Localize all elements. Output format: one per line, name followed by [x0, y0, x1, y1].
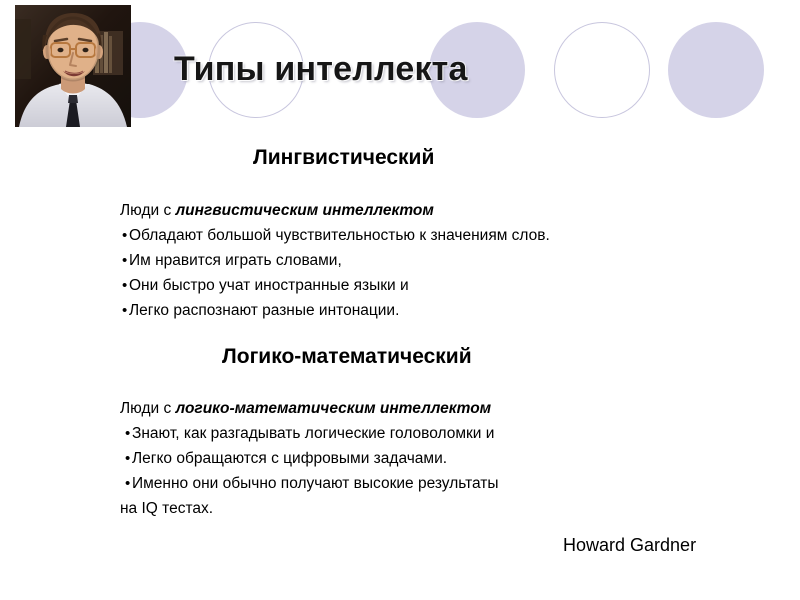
list-item: •Они быстро учат иностранные языки и	[122, 273, 550, 298]
lead-line: Люди с логико-математическим интеллектом	[120, 396, 499, 421]
list-item-label: Знают, как разгадывать логические голово…	[132, 425, 494, 442]
portrait-photo	[15, 5, 131, 127]
section-body-linguistic: Люди с лингвистическим интеллектом •Обла…	[120, 198, 550, 323]
list-item: •Именно они обычно получают высокие резу…	[125, 471, 499, 496]
decorative-circle-5	[668, 22, 764, 118]
lead-prefix: Люди с	[120, 400, 176, 417]
section-heading-linguistic: Лингвистический	[253, 146, 434, 170]
attribution-text: Howard Gardner	[563, 535, 696, 556]
bullet-icon: •	[125, 421, 132, 446]
slide-canvas: Типы интеллекта Лингвистический Люди с л…	[0, 0, 800, 600]
list-item: •Легко обращаются с цифровыми задачами.	[125, 446, 499, 471]
bullet-icon: •	[122, 298, 129, 323]
section-heading-logical-mathematical: Логико-математический	[222, 345, 472, 369]
bullet-icon: •	[122, 223, 129, 248]
bullet-icon: •	[125, 446, 132, 471]
section-body-logical-mathematical: Люди с логико-математическим интеллектом…	[120, 396, 499, 521]
list-item-label: Они быстро учат иностранные языки и	[129, 277, 409, 294]
lead-emphasis: логико-математическим интеллектом	[176, 400, 492, 417]
bullet-icon: •	[122, 248, 129, 273]
bullet-icon: •	[122, 273, 129, 298]
list-item: •Легко распознают разные интонации.	[122, 298, 550, 323]
bullet-icon: •	[125, 471, 132, 496]
list-item: •Знают, как разгадывать логические голов…	[125, 421, 499, 446]
list-item-label: Легко обращаются с цифровыми задачами.	[132, 450, 447, 467]
list-item-continuation: на IQ тестах.	[120, 496, 499, 521]
list-item-label: Обладают большой чувствительностью к зна…	[129, 227, 550, 244]
list-item: •Обладают большой чувствительностью к зн…	[122, 223, 550, 248]
list-item-label: Именно они обычно получают высокие резул…	[132, 475, 499, 492]
lead-prefix: Люди с	[120, 202, 176, 219]
portrait-photo-graphic	[15, 5, 131, 127]
list-item-label: Им нравится играть словами,	[129, 252, 342, 269]
page-title: Типы интеллекта	[174, 50, 468, 89]
decorative-circle-4	[554, 22, 650, 118]
list-item: •Им нравится играть словами,	[122, 248, 550, 273]
list-item-label: Легко распознают разные интонации.	[129, 302, 399, 319]
lead-emphasis: лингвистическим интеллектом	[176, 202, 434, 219]
lead-line: Люди с лингвистическим интеллектом	[120, 198, 550, 223]
